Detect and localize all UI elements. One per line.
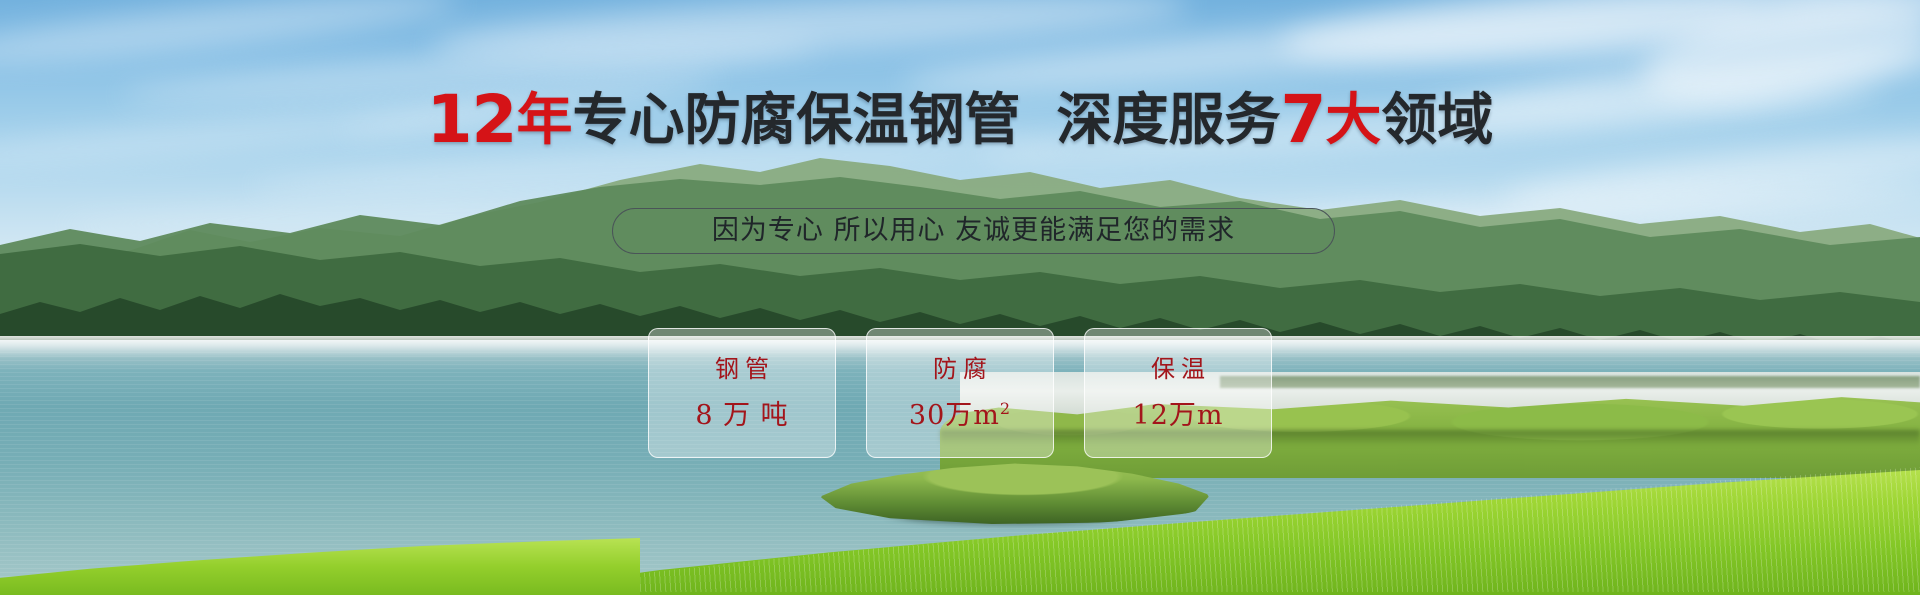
stat-value-exponent: 2 [1000, 399, 1011, 418]
headline-fields-text: 领域 [1381, 88, 1493, 153]
stat-label: 保温 [1145, 355, 1211, 383]
stat-label: 钢管 [709, 355, 775, 383]
stat-card-steel-pipe: 钢管 8 万 吨 [648, 328, 836, 458]
stat-value-main: 8 万 吨 [695, 400, 788, 431]
headline-years-unit: 年 [516, 88, 572, 153]
cloud-wisp [429, 0, 1191, 72]
stat-value: 30万m2 [909, 401, 1011, 431]
stat-value: 8 万 吨 [695, 401, 788, 431]
far-treeline [1220, 376, 1920, 388]
stat-card-insulation: 保温 12万m [1084, 328, 1272, 458]
stat-value: 12万m [1133, 401, 1224, 431]
headline-fields-number: 7 [1280, 81, 1325, 158]
cloud-wisp [1278, 0, 1920, 79]
subtitle-pill: 因为专心 所以用心 友诚更能满足您的需求 [612, 208, 1335, 254]
headline-main-text: 专心防腐保温钢管 [572, 88, 1020, 153]
headline-years-number: 12 [427, 81, 517, 158]
stat-label: 防腐 [927, 355, 993, 383]
headline-service-text: 深度服务 [1056, 88, 1280, 153]
banner-headline: 12年专心防腐保温钢管深度服务7大领域 [0, 88, 1920, 153]
hero-banner: 12年专心防腐保温钢管深度服务7大领域 因为专心 所以用心 友诚更能满足您的需求… [0, 0, 1920, 595]
headline-fields-unit: 大 [1325, 88, 1381, 153]
stat-card-group: 钢管 8 万 吨 防腐 30万m2 保温 12万m [648, 328, 1274, 458]
cloud-wisp [0, 0, 461, 75]
subtitle-text: 因为专心 所以用心 友诚更能满足您的需求 [712, 216, 1235, 246]
stat-value-main: 12万m [1133, 400, 1224, 431]
stat-card-anticorrosion: 防腐 30万m2 [866, 328, 1054, 458]
stat-value-main: 30万m [909, 400, 1000, 431]
